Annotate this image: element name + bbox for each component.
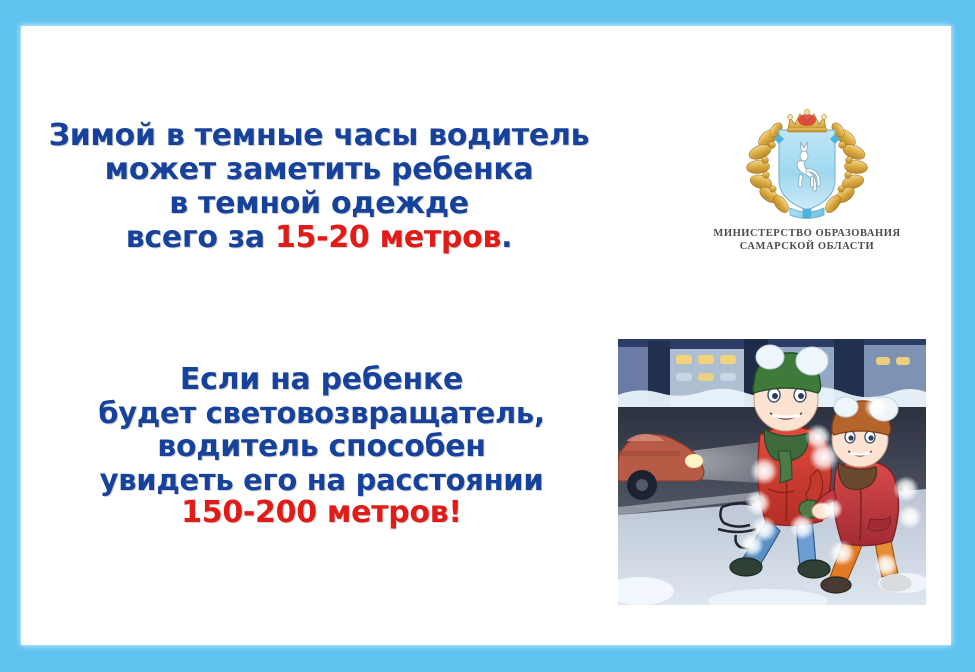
crown-icon <box>787 109 827 132</box>
message-two-line-2: будет световозвращатель, <box>49 397 594 430</box>
message-one-line-2: может заметить ребенка <box>39 153 599 187</box>
message-one-line-4: всего за 15-20 метров. <box>39 221 599 255</box>
message-two-line-1: Если на ребенке <box>49 363 594 397</box>
ministry-title: МИНИСТЕРСТВО ОБРАЗОВАНИЯ САМАРСКОЙ ОБЛАС… <box>697 227 917 254</box>
poster-card: Зимой в темные часы водитель может замет… <box>21 26 951 645</box>
message-two-line-3: водитель способен <box>49 430 594 464</box>
ministry-title-line-2: САМАРСКОЙ ОБЛАСТИ <box>697 240 917 253</box>
ministry-logo: МИНИСТЕРСТВО ОБРАЗОВАНИЯ САМАРСКОЙ ОБЛАС… <box>697 108 917 254</box>
message-block-one: Зимой в темные часы водитель может замет… <box>39 119 599 255</box>
message-one-line-3: в темной одежде <box>39 187 599 221</box>
message-block-two: Если на ребенке будет световозвращатель,… <box>49 363 594 530</box>
poster: Зимой в темные часы водитель может замет… <box>0 0 975 672</box>
distance-without-reflector: 15-20 метров <box>275 220 501 255</box>
distance-with-reflector: 150-200 метров! <box>49 496 594 530</box>
message-one-line-1: Зимой в темные часы водитель <box>39 119 599 153</box>
car-headlight <box>685 454 703 468</box>
message-one-period: . <box>501 220 512 255</box>
ribbon <box>790 208 824 219</box>
message-one-prefix: всего за <box>126 220 275 255</box>
winter-street-illustration <box>618 339 926 605</box>
coat-of-arms-icon <box>732 108 882 223</box>
ministry-title-line-1: МИНИСТЕРСТВО ОБРАЗОВАНИЯ <box>697 227 917 240</box>
message-two-line-4: увидеть его на расстоянии <box>49 464 594 497</box>
